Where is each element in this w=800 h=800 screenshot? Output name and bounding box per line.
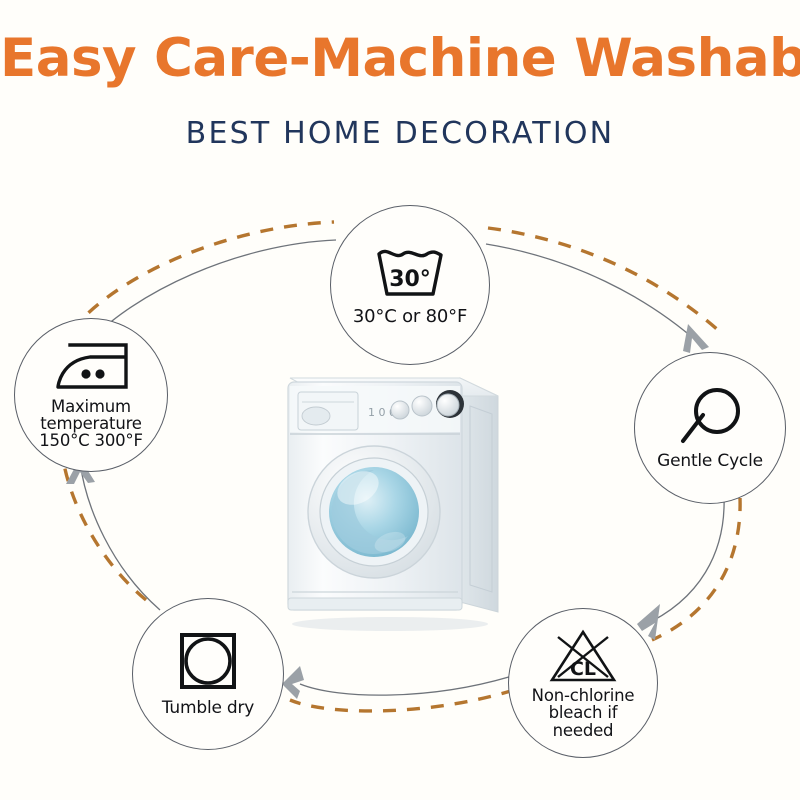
care-node-caption: Maximum temperature 150°C 300°F xyxy=(39,398,143,449)
tumble-dry-icon xyxy=(177,630,239,692)
care-node-caption: Non-chlorine bleach if needed xyxy=(532,687,635,738)
care-node-wash-temperature[interactable]: 30° 30°C or 80°F xyxy=(330,205,490,365)
non-chlorine-bleach-icon: CL xyxy=(546,627,620,685)
care-node-caption: Gentle Cycle xyxy=(657,453,763,471)
care-instructions-infographic: Easy Care-Machine Washable BEST HOME DEC… xyxy=(0,0,800,800)
washing-machine-illustration: 1 0 0 xyxy=(272,352,512,632)
arrow-tumble-to-iron xyxy=(62,452,160,610)
arrow-wash-to-gentle xyxy=(486,228,718,353)
svg-text:30°: 30° xyxy=(389,267,431,292)
wash-tub-30-icon: 30° xyxy=(373,244,447,300)
care-node-tumble-dry[interactable]: Tumble dry xyxy=(132,598,284,750)
care-node-caption: Tumble dry xyxy=(162,700,254,718)
care-node-iron-temperature[interactable]: Maximum temperature 150°C 300°F xyxy=(14,318,168,472)
care-node-non-chlorine-bleach[interactable]: CL Non-chlorine bleach if needed xyxy=(508,608,658,758)
arrow-gentle-to-bleach xyxy=(637,496,740,640)
arrow-bleach-to-tumble xyxy=(282,666,514,711)
gentle-cycle-icon xyxy=(677,385,743,447)
care-node-caption: 30°C or 80°F xyxy=(353,308,467,327)
care-node-gentle-cycle[interactable]: Gentle Cycle xyxy=(634,352,786,504)
svg-text:CL: CL xyxy=(570,658,596,680)
iron-two-dots-icon xyxy=(48,341,134,395)
